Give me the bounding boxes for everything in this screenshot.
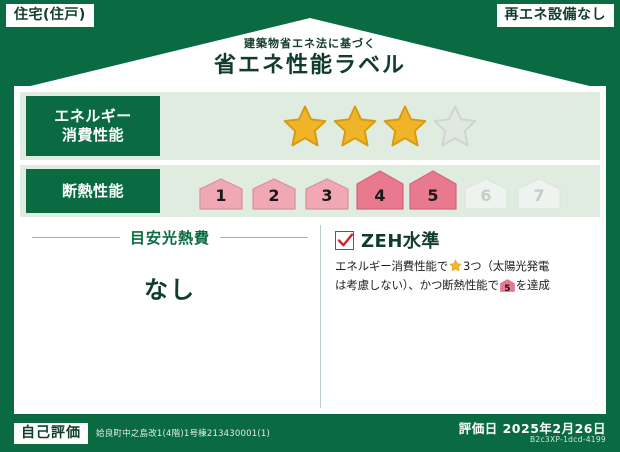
evaluation-id: B2c3XP-1dcd-4199 xyxy=(459,436,606,445)
house-icon-inactive xyxy=(464,178,508,210)
insulation-level-1: 1 xyxy=(196,178,246,210)
page-title: 省エネ性能ラベル xyxy=(0,52,620,80)
header-title-block: 建築物省エネ法に基づく 省エネ性能ラベル xyxy=(0,38,620,80)
housing-type-tag: 住宅(住戸) xyxy=(6,4,94,27)
footer-left-group: 自己評価 姶良町中之島改1(4階)1号棟213430001(1) xyxy=(14,423,270,444)
insulation-level-7: 7 xyxy=(514,178,564,210)
zeh-desc-star-count: 3つ（太陽光発電 xyxy=(463,259,549,273)
star-filled-icon xyxy=(281,103,329,149)
evaluation-date: 評価日 2025年2月26日 xyxy=(459,422,606,436)
zeh-checkbox[interactable] xyxy=(335,231,354,250)
evaluation-date-label: 評価日 xyxy=(459,421,498,436)
house-icon-active xyxy=(305,178,349,210)
energy-label-line1: エネルギー xyxy=(54,107,132,125)
label-body: エネルギー 消費性能 断熱性能 1234567 目安光熱費 なし xyxy=(14,86,606,414)
star-filled-icon xyxy=(381,103,429,149)
zeh-header: ZEH水準 xyxy=(335,227,596,253)
house-icon-active xyxy=(356,170,404,210)
inline-house-icon: 5 xyxy=(500,279,515,297)
star-rating xyxy=(281,103,479,149)
check-icon xyxy=(337,232,354,249)
energy-label-line2: 消費性能 xyxy=(62,126,124,144)
footer-right-group: 評価日 2025年2月26日 B2c3XP-1dcd-4199 xyxy=(459,422,606,445)
insulation-level-2: 2 xyxy=(249,178,299,210)
insulation-level-scale: 1234567 xyxy=(196,170,564,212)
zeh-desc-part3: を達成 xyxy=(516,278,550,292)
self-evaluation-badge: 自己評価 xyxy=(14,423,88,444)
utility-cost-value: なし xyxy=(144,270,196,305)
star-empty-icon xyxy=(431,103,479,149)
utility-cost-heading-text: 目安光熱費 xyxy=(120,227,220,248)
insulation-performance-value: 1234567 xyxy=(160,165,600,217)
house-icon-active xyxy=(409,170,457,210)
insulation-performance-row: 断熱性能 1234567 xyxy=(20,165,600,217)
inline-house-number: 5 xyxy=(500,283,515,296)
energy-performance-row: エネルギー 消費性能 xyxy=(20,92,600,160)
property-address: 姶良町中之島改1(4階)1号棟213430001(1) xyxy=(96,427,270,439)
energy-performance-label: エネルギー 消費性能 xyxy=(26,96,160,156)
header-subtitle: 建築物省エネ法に基づく xyxy=(0,38,620,50)
lower-section: 目安光熱費 なし ZEH水準 エネルギー消費性能で3つ（太陽光発電は考慮しない）… xyxy=(20,225,600,408)
zeh-description: エネルギー消費性能で3つ（太陽光発電は考慮しない）、かつ断熱性能で5を達成 xyxy=(335,258,596,296)
zeh-section: ZEH水準 エネルギー消費性能で3つ（太陽光発電は考慮しない）、かつ断熱性能で5… xyxy=(320,225,600,408)
zeh-desc-part2: は考慮しない）、かつ断熱性能で xyxy=(335,278,499,292)
label-footer: 自己評価 姶良町中之島改1(4階)1号棟213430001(1) 評価日 202… xyxy=(0,414,620,452)
zeh-desc-part1: エネルギー消費性能で xyxy=(335,259,448,273)
house-icon-active xyxy=(199,178,243,210)
zeh-title: ZEH水準 xyxy=(361,227,440,253)
house-icon-active xyxy=(252,178,296,210)
house-icon-inactive xyxy=(517,178,561,210)
inline-star-icon xyxy=(449,259,462,277)
renewable-equipment-tag: 再エネ設備なし xyxy=(497,4,615,27)
utility-cost-section: 目安光熱費 なし xyxy=(20,225,320,408)
insulation-level-5: 5 xyxy=(408,170,458,210)
insulation-level-4: 4 xyxy=(355,170,405,210)
energy-performance-value xyxy=(160,92,600,160)
energy-label-card: 住宅(住戸) 再エネ設備なし 建築物省エネ法に基づく 省エネ性能ラベル エネルギ… xyxy=(0,0,620,452)
star-filled-icon xyxy=(331,103,379,149)
insulation-performance-label: 断熱性能 xyxy=(26,169,160,213)
evaluation-date-value: 2025年2月26日 xyxy=(503,421,606,436)
utility-cost-heading: 目安光熱費 xyxy=(20,227,320,248)
insulation-level-3: 3 xyxy=(302,178,352,210)
insulation-level-6: 6 xyxy=(461,178,511,210)
